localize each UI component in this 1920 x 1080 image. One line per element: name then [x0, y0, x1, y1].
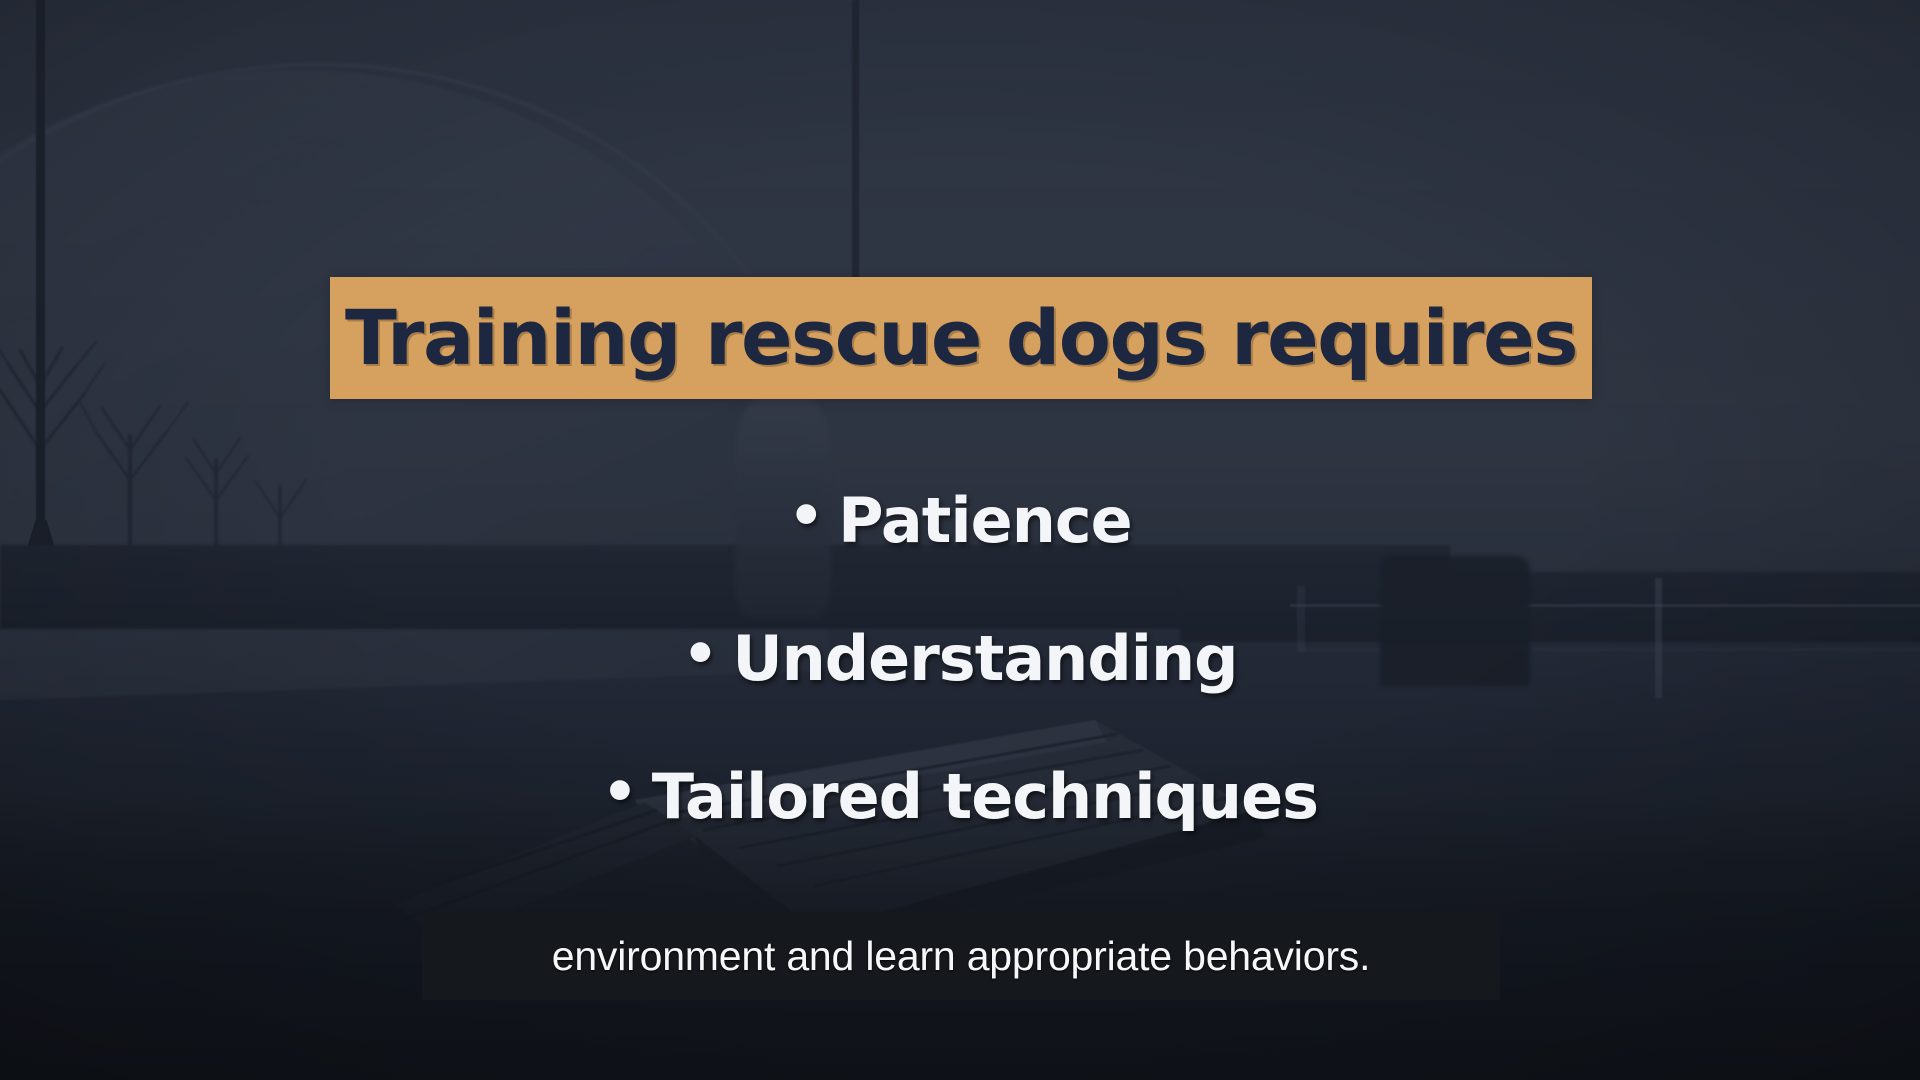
bullet-dot-icon: •	[602, 765, 638, 821]
video-slide-frame: Training rescue dogs requires • Patience…	[0, 0, 1920, 1080]
subtitle-caption-bar: environment and learn appropriate behavi…	[422, 912, 1500, 1000]
slide-content-layer: Training rescue dogs requires • Patience…	[0, 0, 1920, 1080]
bullet-dot-icon: •	[788, 489, 824, 545]
bullet-item-understanding: • Understanding	[0, 590, 1920, 728]
bullet-label: Patience	[838, 490, 1132, 552]
bullet-item-patience: • Patience	[0, 452, 1920, 590]
bullet-label: Tailored techniques	[652, 766, 1318, 828]
subtitle-caption-text: environment and learn appropriate behavi…	[552, 936, 1371, 977]
bullet-label: Understanding	[732, 628, 1237, 690]
bullet-list: • Patience • Understanding • Tailored te…	[0, 452, 1920, 866]
bullet-dot-icon: •	[683, 627, 719, 683]
slide-title: Training rescue dogs requires	[345, 300, 1577, 376]
bullet-item-tailored-techniques: • Tailored techniques	[0, 728, 1920, 866]
title-banner: Training rescue dogs requires	[330, 277, 1592, 399]
